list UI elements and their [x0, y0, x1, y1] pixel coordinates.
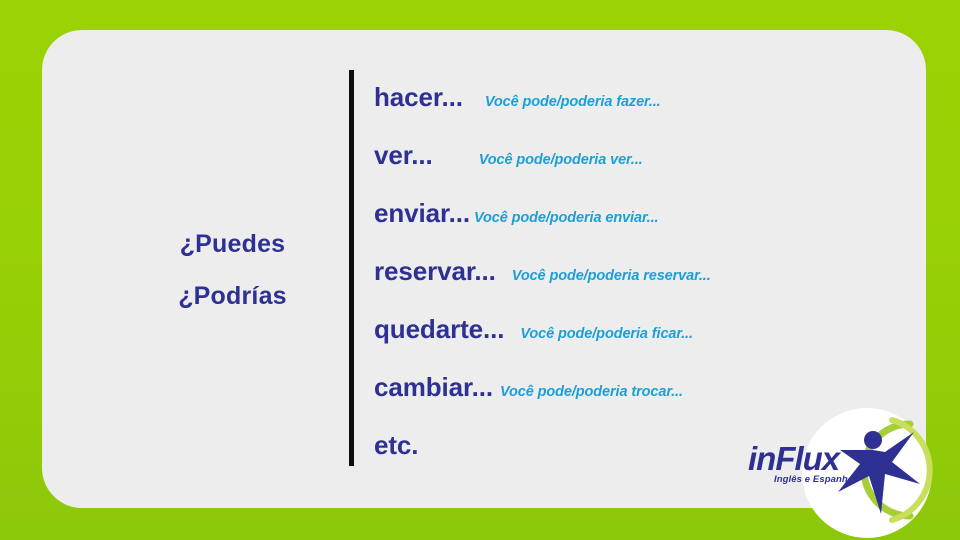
verb-spanish: hacer... [374, 82, 463, 113]
list-item: enviar... Você pode/poderia enviar... [374, 198, 904, 256]
verb-portuguese: Você pode/poderia trocar... [500, 384, 683, 400]
verb-spanish: etc. [374, 430, 418, 461]
list-item: reservar... Você pode/poderia reservar..… [374, 256, 904, 314]
verb-portuguese: Você pode/poderia reservar... [512, 268, 711, 284]
logo-tagline: Inglês e Espanhol [774, 474, 856, 485]
verb-portuguese: Você pode/poderia ver... [479, 152, 643, 168]
verb-spanish: cambiar... [374, 372, 493, 403]
prompt-label-line-1: ¿Puedes [130, 218, 335, 270]
influx-logo: inFlux Inglês e Espanhol [742, 414, 942, 526]
verb-spanish: quedarte... [374, 314, 504, 345]
list-item: hacer... Você pode/poderia fazer... [374, 82, 904, 140]
logo-wordmark: inFlux [748, 440, 839, 478]
verb-portuguese: Você pode/poderia ficar... [520, 326, 693, 342]
verb-spanish: reservar... [374, 256, 496, 287]
verb-spanish: enviar... [374, 198, 470, 229]
prompt-label-line-2: ¿Podrías [130, 270, 335, 322]
slide-canvas: ¿Puedes ¿Podrías hacer... Você pode/pode… [0, 0, 960, 540]
prompt-label: ¿Puedes ¿Podrías [130, 218, 335, 322]
verb-portuguese: Você pode/poderia fazer... [485, 94, 661, 110]
list-item: quedarte... Você pode/poderia ficar... [374, 314, 904, 372]
vertical-divider [349, 70, 354, 466]
verb-portuguese: Você pode/poderia enviar... [474, 210, 659, 226]
logo-figure-head-icon [864, 431, 882, 449]
list-item: ver... Você pode/poderia ver... [374, 140, 904, 198]
verb-spanish: ver... [374, 140, 433, 171]
